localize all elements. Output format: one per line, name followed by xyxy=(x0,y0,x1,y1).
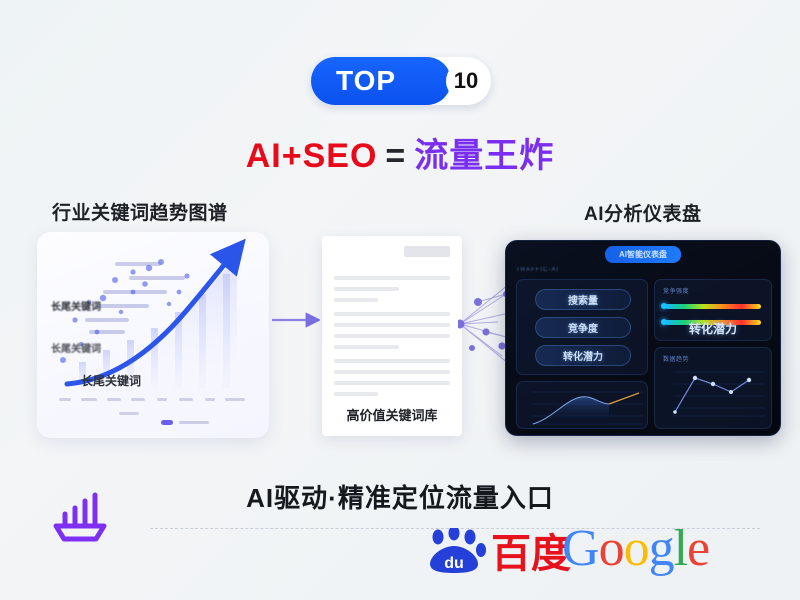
longtail-label-2: 长尾关键词 xyxy=(51,340,101,355)
baidu-paw-icon: du xyxy=(424,528,488,574)
section-title-left: 行业关键词趋势图谱 xyxy=(52,198,228,225)
gauge-overlay-label: 转化潜力 xyxy=(655,320,771,337)
badge-number: 10 xyxy=(446,61,486,101)
doc-placeholder-lines xyxy=(334,254,450,403)
kpi-search-volume[interactable]: 搜索量 xyxy=(535,289,631,310)
area-chart-panel xyxy=(516,381,648,429)
line-chart-title: 数据趋势 xyxy=(663,354,689,363)
svg-text:du: du xyxy=(444,555,464,572)
google-logo: Google xyxy=(562,523,709,575)
gauge-panel-title: 竞争强度 xyxy=(663,286,689,295)
bottom-slogan: AI驱动·精准定位流量入口 xyxy=(0,478,800,515)
google-letter-o2: o xyxy=(624,520,649,577)
dashboard-title-badge: AI智能仪表盘 xyxy=(605,246,681,263)
headline-equals: = xyxy=(385,137,406,175)
dashboard-brand-label: TRAFFIC-AI xyxy=(516,267,559,273)
doc-caption: 高价值关键词库 xyxy=(322,405,462,424)
bar-chart-icon xyxy=(48,484,112,548)
kpi-competition[interactable]: 竞争度 xyxy=(535,317,631,338)
longtail-label-3: 长尾关键词 xyxy=(81,372,141,389)
section-title-right: AI分析仪表盘 xyxy=(584,199,702,226)
longtail-label-1: 长尾关键词 xyxy=(51,298,101,313)
line-chart-panel: 数据趋势 xyxy=(654,347,772,429)
page-title: AI+SEO=流量王炸 xyxy=(0,128,800,177)
gauge-marker-1 xyxy=(661,303,667,309)
kpi-panel: 搜索量 竞争度 转化潜力 xyxy=(516,279,648,375)
baidu-wordmark: 百度 xyxy=(491,534,571,574)
google-letter-g1: G xyxy=(562,520,599,577)
dashboard-header: AI智能仪表盘 xyxy=(506,241,780,267)
google-letter-l: l xyxy=(674,520,687,577)
kpi-conversion-potential[interactable]: 转化潜力 xyxy=(535,345,631,366)
slide-canvas: TOP 10 AI+SEO=流量王炸 行业关键词趋势图谱 AI分析仪表盘 xyxy=(0,0,800,600)
headline-highlight: 流量王炸 xyxy=(414,137,554,175)
top-rank-badge: TOP 10 xyxy=(311,57,491,105)
trend-chart-svg xyxy=(37,232,269,438)
ai-dashboard-panel: AI智能仪表盘 TRAFFIC-AI 搜索量 竞争度 转化潜力 竞争强度 转化潜… xyxy=(505,240,781,436)
flow-arrow-icon xyxy=(272,312,320,328)
headline-ai-seo: AI+SEO xyxy=(246,137,378,175)
baidu-logo: du 百度 xyxy=(424,528,571,574)
google-letter-e: e xyxy=(687,520,709,577)
badge-top-label: TOP xyxy=(336,57,396,105)
gauge-panel: 竞争强度 转化潜力 xyxy=(654,279,772,341)
keyword-document-card: 高价值关键词库 xyxy=(322,236,462,436)
area-chart-svg xyxy=(517,382,649,430)
keyword-trend-card: 长尾关键词 长尾关键词 长尾关键词 xyxy=(37,232,269,438)
gauge-bar-1 xyxy=(665,304,761,309)
google-letter-o1: o xyxy=(599,520,624,577)
google-letter-g2: g xyxy=(649,520,674,577)
